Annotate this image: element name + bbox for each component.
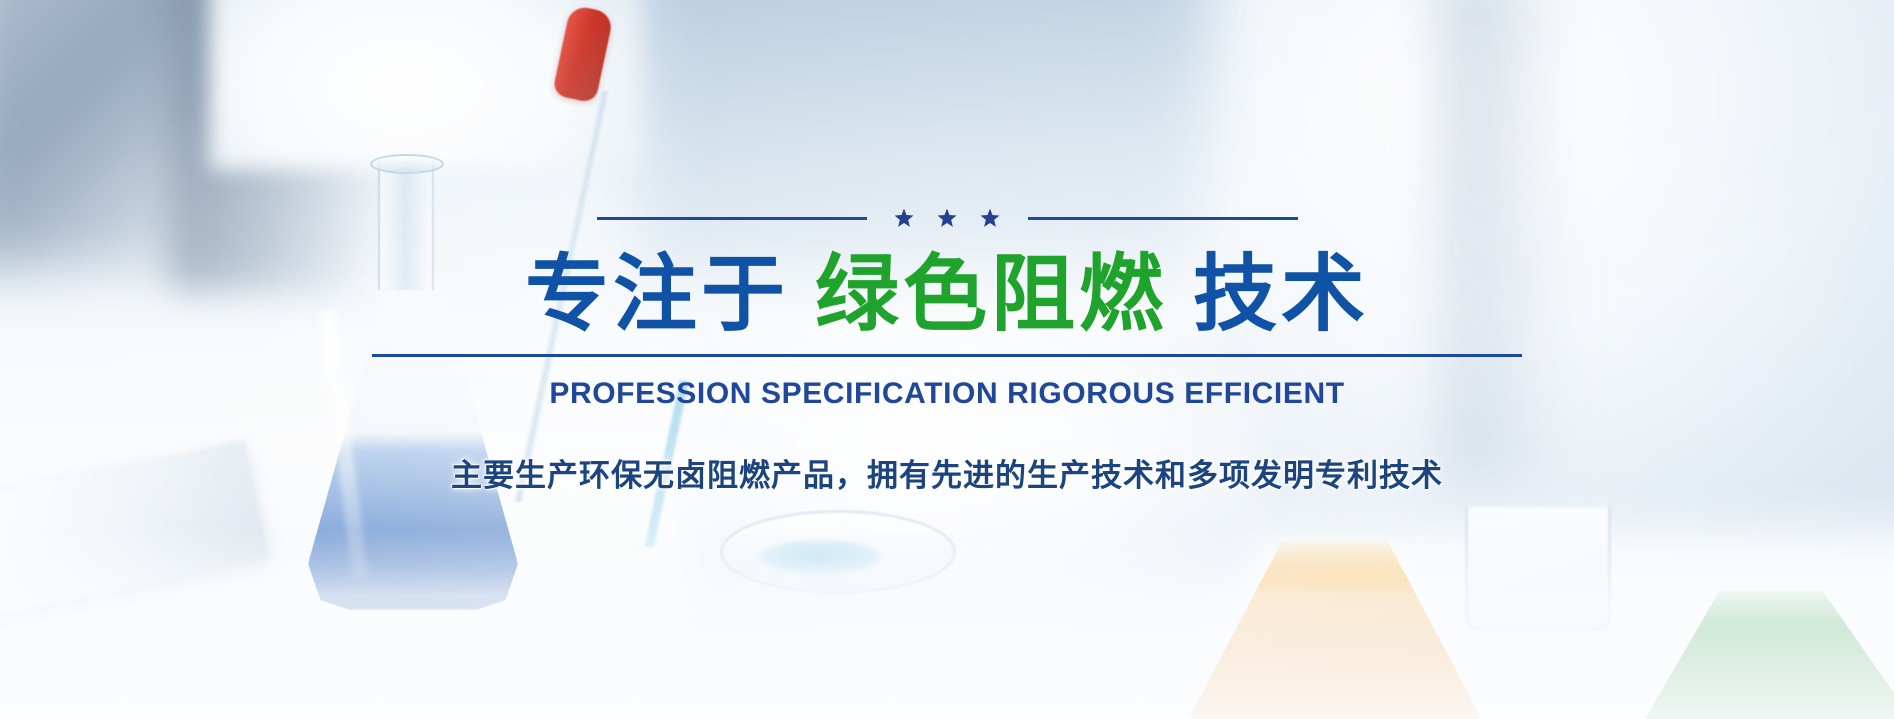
- banner-content: 专注于绿色阻燃技术 PROFESSION SPECIFICATION RIGOR…: [0, 0, 1894, 719]
- star-icon: [981, 209, 1000, 228]
- subtitle-english: PROFESSION SPECIFICATION RIGOROUS EFFICI…: [297, 377, 1597, 411]
- divider-rule-left: [597, 217, 867, 220]
- title-segment-blue-2: 技术: [1193, 245, 1369, 343]
- star-group: [867, 209, 1028, 228]
- divider-rule-right: [1028, 217, 1298, 220]
- hero-banner: 专注于绿色阻燃技术 PROFESSION SPECIFICATION RIGOR…: [0, 0, 1894, 719]
- title-segment-blue-1: 专注于: [525, 245, 789, 343]
- divider-rule-bottom: [372, 354, 1522, 357]
- page-title: 专注于绿色阻燃技术: [297, 249, 1597, 340]
- star-icon: [938, 209, 957, 228]
- headline-block: 专注于绿色阻燃技术 PROFESSION SPECIFICATION RIGOR…: [297, 205, 1597, 411]
- tagline-chinese: 主要生产环保无卤阻燃产品，拥有先进的生产技术和多项发明专利技术: [247, 450, 1647, 495]
- star-icon: [895, 209, 914, 228]
- ornament-divider: [297, 205, 1597, 231]
- title-segment-green: 绿色阻燃: [815, 245, 1167, 343]
